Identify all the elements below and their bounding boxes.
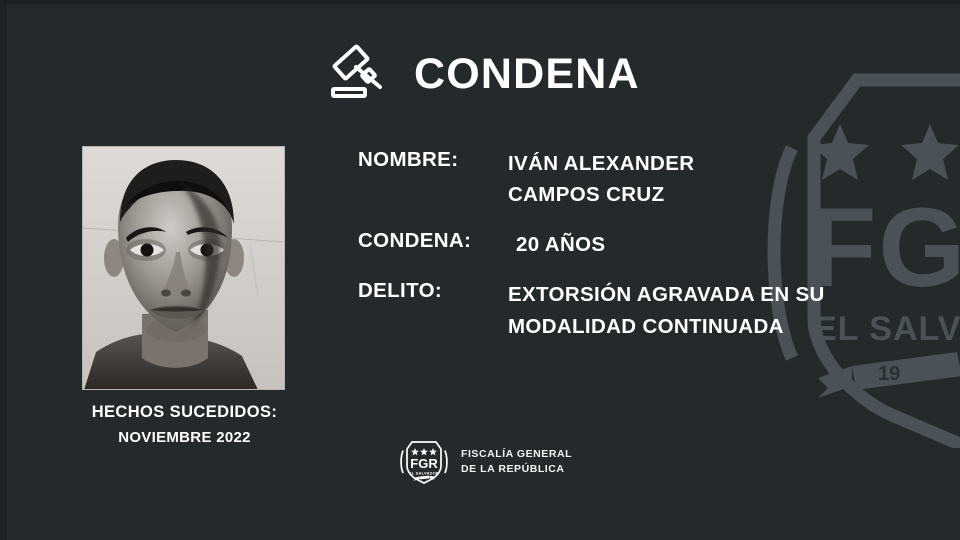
detail-value-nombre-line2: CAMPOS CRUZ (508, 179, 903, 210)
detail-value-condena: 20 AÑOS (516, 229, 903, 260)
fgr-footer-logo: FGR EL SALVADOR FISCALÍA GENERAL DE LA R… (399, 436, 572, 488)
detail-label-condena: CONDENA: (358, 229, 471, 253)
detail-label-delito: DELITO: (358, 279, 442, 303)
header: CONDENA (330, 44, 640, 104)
fgr-footer-line1: FISCALÍA GENERAL (461, 447, 572, 462)
photo-caption-title: HECHOS SUCEDIDOS: (42, 402, 327, 423)
mugshot-photo (82, 146, 285, 390)
svg-text:FGR: FGR (410, 456, 438, 471)
detail-row-nombre: NOMBRE: IVÁN ALEXANDER CAMPOS CRUZ (358, 148, 903, 210)
detail-value-delito-line1: EXTORSIÓN AGRAVADA EN SU (508, 279, 903, 310)
detail-value-condena-line1: 20 AÑOS (516, 229, 903, 260)
page-title: CONDENA (414, 53, 640, 96)
photo-caption-date: NOVIEMBRE 2022 (42, 429, 327, 448)
watermark-ribbon-band (852, 352, 960, 390)
watermark-star-2 (901, 124, 959, 180)
left-edge-strip (0, 0, 7, 540)
fgr-footer-text: FISCALÍA GENERAL DE LA REPÚBLICA (461, 447, 572, 477)
detail-value-nombre-line1: IVÁN ALEXANDER (508, 148, 903, 179)
watermark-ribbon-tail (818, 366, 852, 398)
case-details: NOMBRE: IVÁN ALEXANDER CAMPOS CRUZ CONDE… (358, 148, 903, 342)
svg-text:EL SALVADOR: EL SALVADOR (409, 471, 439, 476)
gavel-sound-block (333, 89, 365, 96)
detail-value-delito-line2: MODALIDAD CONTINUADA (508, 311, 903, 342)
detail-value-nombre: IVÁN ALEXANDER CAMPOS CRUZ (508, 148, 903, 210)
fgr-badge-icon: FGR EL SALVADOR (399, 436, 449, 488)
detail-row-condena: CONDENA: 20 AÑOS (358, 229, 903, 260)
fgr-footer-line2: DE LA REPÚBLICA (461, 462, 572, 477)
detail-label-nombre: NOMBRE: (358, 148, 458, 172)
gavel-icon (330, 44, 392, 104)
detail-value-delito: EXTORSIÓN AGRAVADA EN SU MODALIDAD CONTI… (508, 279, 903, 341)
top-edge-strip (0, 0, 960, 4)
photo-caption: HECHOS SUCEDIDOS: NOVIEMBRE 2022 (42, 402, 327, 447)
poster-canvas: FGR EL SALVADOR 19 CONDENA (0, 0, 960, 540)
watermark-ribbon-year: 19 (878, 363, 900, 385)
detail-row-delito: DELITO: EXTORSIÓN AGRAVADA EN SU MODALID… (358, 279, 903, 341)
